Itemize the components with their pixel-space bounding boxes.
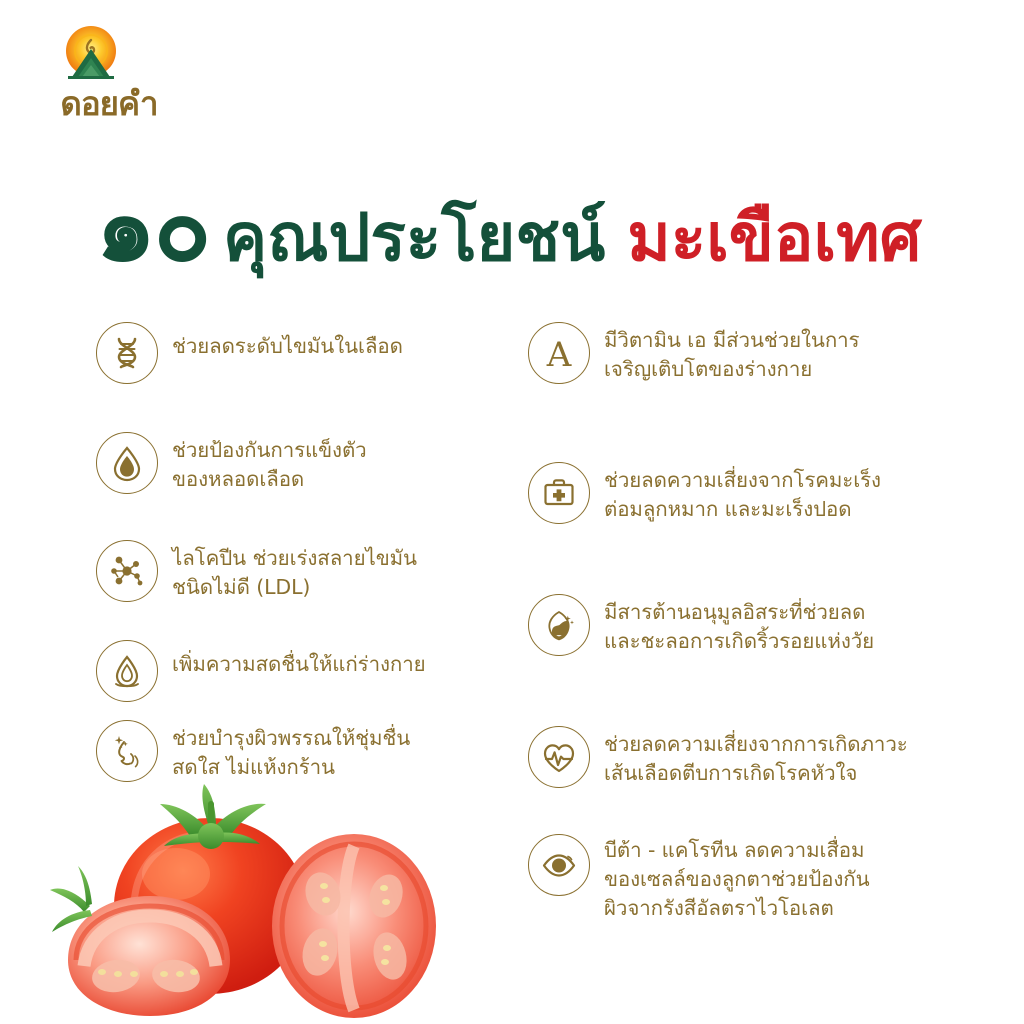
benefit-text: ช่วยลดความเสี่ยงจากการเกิดภาวะ เส้นเลือด… (604, 726, 908, 788)
benefit-item-2: ช่วยป้องกันการแข็งตัว ของหลอดเลือด (96, 432, 496, 494)
sun-mountain-logo-icon (60, 22, 122, 84)
vitamin-a-icon: A (528, 322, 590, 384)
eye-icon (528, 834, 590, 896)
infographic-poster: ดอยคำ ๑๐ คุณประโยชน์ มะเขือเทศ (0, 0, 1024, 1024)
page-title: ๑๐ คุณประโยชน์ มะเขือเทศ (96, 182, 976, 286)
benefit-item-7: ช่วยลดความเสี่ยงจากโรคมะเร็ง ต่อมลูกหมาก… (528, 462, 928, 524)
benefit-item-4: เพิ่มความสดชื่นให้แก่ร่างกาย (96, 640, 496, 702)
benefit-text: มีสารต้านอนุมูลอิสระที่ช่วยลด และชะลอการ… (604, 594, 874, 656)
benefit-text: เพิ่มความสดชื่นให้แก่ร่างกาย (172, 640, 426, 679)
brand-logo: ดอยคำ (34, 22, 184, 132)
benefit-item-9: ช่วยลดความเสี่ยงจากการเกิดภาวะ เส้นเลือด… (528, 726, 928, 788)
heart-pulse-icon (528, 726, 590, 788)
benefit-text: ช่วยลดระดับไขมันในเลือด (172, 322, 403, 361)
antioxidant-face-icon (528, 594, 590, 656)
benefit-text: มีวิตามิน เอ มีส่วนช่วยในการ เจริญเติบโต… (604, 322, 859, 384)
benefit-item-1: ช่วยลดระดับไขมันในเลือด (96, 322, 496, 384)
benefit-text: บีต้า - แคโรทีน ลดความเสื่อม ของเซลล์ของ… (604, 834, 870, 923)
molecule-icon (96, 540, 158, 602)
benefit-item-8: มีสารต้านอนุมูลอิสระที่ช่วยลด และชะลอการ… (528, 594, 928, 656)
title-tomato: มะเขือเทศ (627, 199, 921, 277)
first-aid-kit-icon (528, 462, 590, 524)
benefit-item-3: ไลโคปีน ช่วยเร่งสลายไขมัน ชนิดไม่ดี (LDL… (96, 540, 496, 602)
blood-drop-icon (96, 432, 158, 494)
brand-name: ดอยคำ (34, 84, 184, 124)
benefit-text: ไลโคปีน ช่วยเร่งสลายไขมัน ชนิดไม่ดี (LDL… (172, 540, 417, 602)
benefit-text: ช่วยป้องกันการแข็งตัว ของหลอดเลือด (172, 432, 367, 494)
title-number: ๑๐ (96, 182, 209, 276)
benefit-text: ช่วยลดความเสี่ยงจากโรคมะเร็ง ต่อมลูกหมาก… (604, 462, 881, 524)
benefit-item-10: บีต้า - แคโรทีน ลดความเสื่อม ของเซลล์ของ… (528, 834, 928, 923)
svg-text:A: A (546, 335, 572, 373)
dna-icon (96, 322, 158, 384)
title-benefit: คุณประโยชน์ (223, 199, 605, 277)
tomato-photo (24, 754, 454, 1024)
water-drop-icon (96, 640, 158, 702)
benefit-item-6: A มีวิตามิน เอ มีส่วนช่วยในการ เจริญเติบ… (528, 322, 928, 384)
